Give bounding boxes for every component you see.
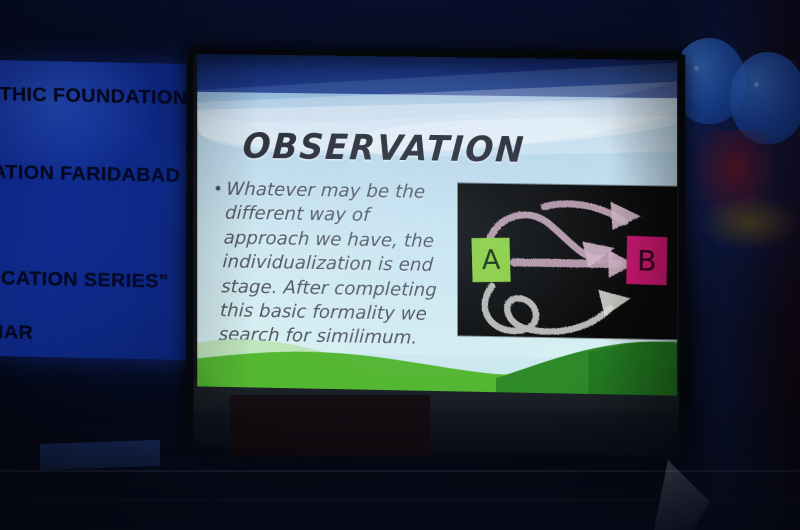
foreground-shadow [230,395,430,455]
slide-hills-graphic [197,329,677,396]
foreground-paper [40,440,160,470]
node-a-label: A [481,244,500,275]
slide-bullet-text: Whatever may be the different way of app… [218,178,443,352]
stage-decor-gold [700,195,800,250]
slide-bullet-item: • Whatever may be the different way of a… [213,178,472,353]
presentation-slide: OBSERVATION • Whatever may be the differ… [197,54,677,396]
bullet-line-2: different way of [224,202,441,230]
banner-line-2: IATION FARIDABAD [0,162,180,188]
chalkboard-diagram: A B [458,183,677,339]
bullet-line-3: approach we have, the [223,226,440,254]
floor-edge-line [0,470,800,472]
photo-scene: ATHIC FOUNDATION IATION FARIDABAD UCATIO… [0,0,800,530]
node-b-label: B [637,244,657,278]
node-b-box: B [626,236,667,286]
node-a-box: A [471,238,510,282]
bullet-line-4: individualization is end [222,251,439,279]
banner-line-1: ATHIC FOUNDATION [0,84,187,110]
banner-text-block: ATHIC FOUNDATION IATION FARIDABAD UCATIO… [0,60,190,360]
bullet-line-1: Whatever may be the [226,178,443,206]
slide-title: OBSERVATION [241,125,526,170]
banner-line-4: NAR [0,322,33,345]
banner-line-3: UCATION SERIES" [0,268,169,294]
